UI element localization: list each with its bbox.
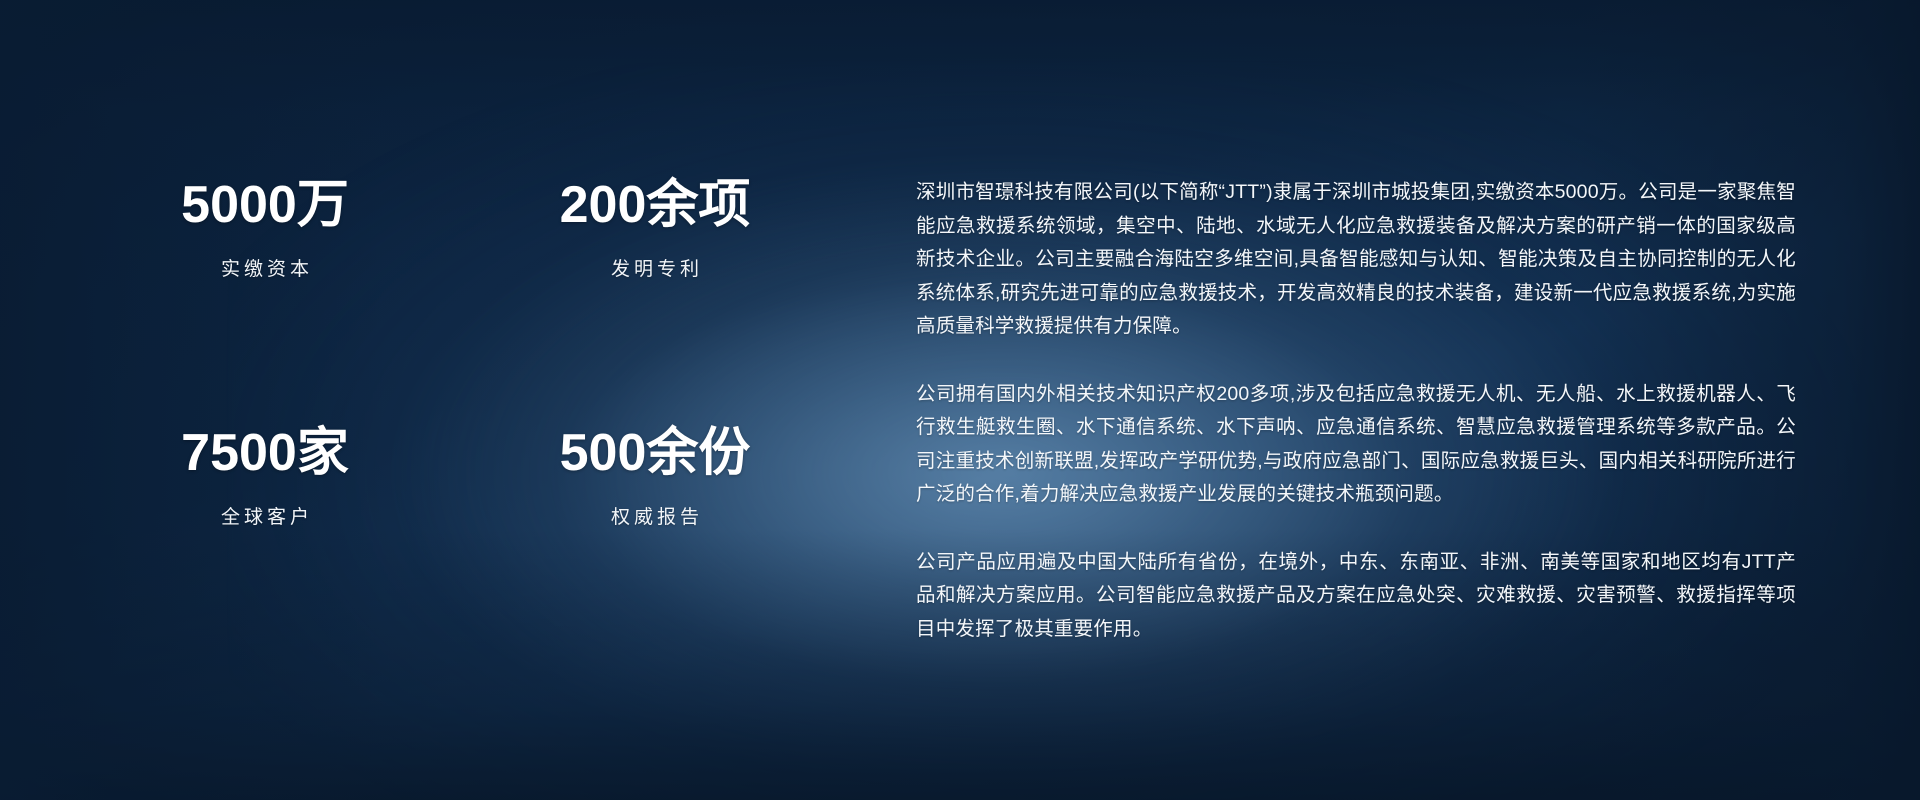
stat-card-authoritative-reports: 500余份 权威报告 bbox=[540, 426, 770, 529]
description-paragraph-3: 公司产品应用遍及中国大陆所有省份，在境外，中东、东南亚、非洲、南美等国家和地区均… bbox=[916, 546, 1796, 647]
company-description: 深圳市智璟科技有限公司(以下简称“JTT”)隶属于深圳市城投集团,实缴资本500… bbox=[916, 176, 1796, 646]
stat-label: 权威报告 bbox=[540, 502, 770, 529]
stat-value: 7500家 bbox=[150, 426, 380, 480]
stat-card-invention-patents: 200余项 发明专利 bbox=[540, 178, 770, 426]
stat-card-global-customers: 7500家 全球客户 bbox=[150, 426, 380, 529]
slide-content: 5000万 实缴资本 200余项 发明专利 7500家 全球客户 500余份 权… bbox=[0, 0, 1920, 800]
company-profile-slide: 5000万 实缴资本 200余项 发明专利 7500家 全球客户 500余份 权… bbox=[0, 0, 1920, 800]
description-paragraph-1: 深圳市智璟科技有限公司(以下简称“JTT”)隶属于深圳市城投集团,实缴资本500… bbox=[916, 176, 1796, 344]
stat-value: 500余份 bbox=[540, 426, 770, 480]
stat-value: 5000万 bbox=[150, 178, 380, 232]
stat-label: 发明专利 bbox=[540, 254, 770, 281]
stat-card-paid-in-capital: 5000万 实缴资本 bbox=[150, 178, 380, 426]
stat-label: 实缴资本 bbox=[150, 254, 380, 281]
description-paragraph-2: 公司拥有国内外相关技术知识产权200多项,涉及包括应急救援无人机、无人船、水上救… bbox=[916, 378, 1796, 512]
statistics-grid: 5000万 实缴资本 200余项 发明专利 7500家 全球客户 500余份 权… bbox=[150, 178, 810, 529]
stat-value: 200余项 bbox=[540, 178, 770, 232]
stat-label: 全球客户 bbox=[150, 502, 380, 529]
